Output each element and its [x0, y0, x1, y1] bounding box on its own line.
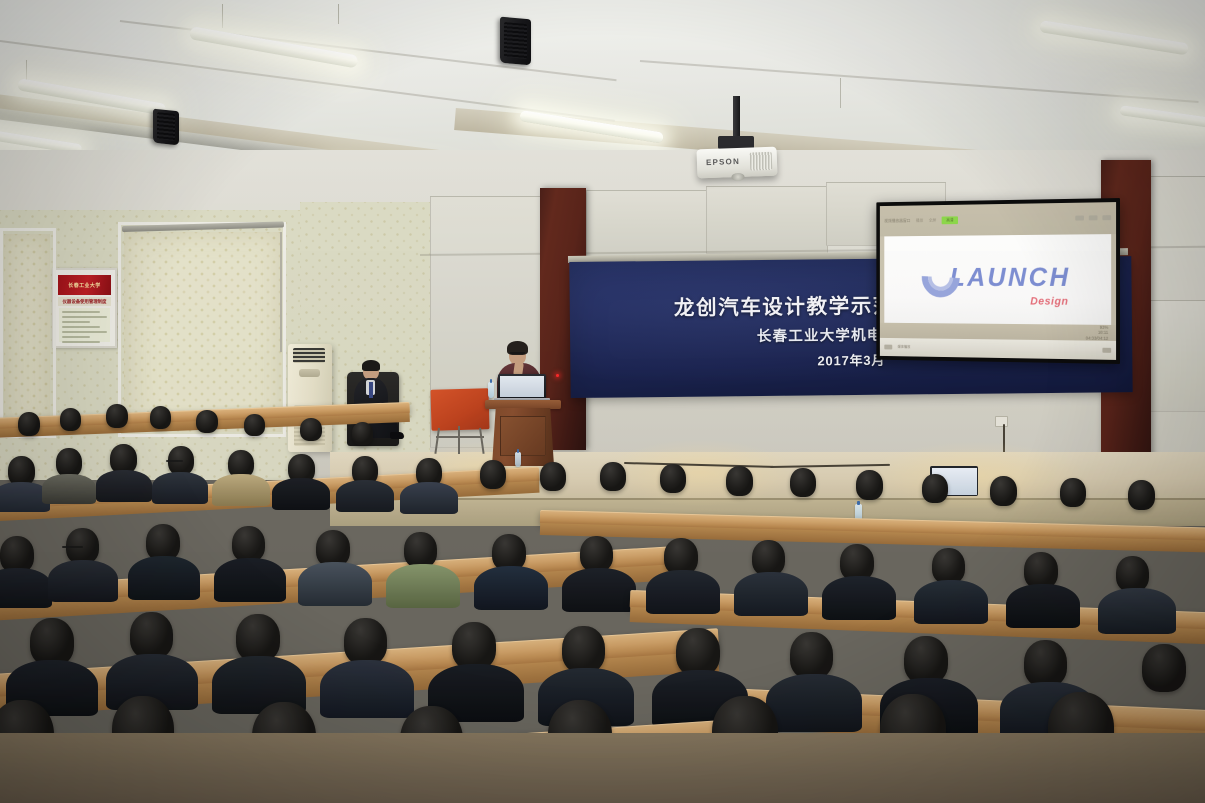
guest-tie	[369, 382, 373, 398]
aud-head-cr4	[932, 548, 965, 584]
podium-laptop-screen[interactable]	[500, 376, 544, 397]
aud-head-a6	[244, 414, 265, 436]
aud-head-br8	[1060, 478, 1086, 507]
aud-shoulder-c2	[48, 560, 118, 602]
aud-head-dr1	[676, 628, 720, 676]
aud-shoulder-d4	[320, 660, 414, 718]
aud-head-dr3	[904, 636, 948, 684]
aud-head-cr2	[752, 540, 785, 576]
ac-grille-icon	[293, 348, 325, 363]
aud-shoulder-cr4	[914, 580, 988, 624]
ceiling-projector: EPSON	[697, 147, 778, 179]
launch-swoosh-icon	[922, 257, 960, 298]
launch-logo-subtext: Design	[1030, 296, 1068, 308]
aud-head-a5	[196, 410, 218, 433]
projector-brand-label: EPSON	[706, 157, 740, 167]
wall-panel-3	[706, 186, 828, 254]
lecture-hall-photo: 长春工业大学 仪器设备使用管理制度	[0, 0, 1205, 803]
light-wire-4	[840, 78, 841, 108]
aud-shoulder-c7	[474, 566, 548, 610]
aud-head-br6	[922, 474, 948, 503]
wall-notice-frame: 长春工业大学 仪器设备使用管理制度	[52, 268, 117, 348]
player-taskbar[interactable]: 媒体播放	[880, 338, 1116, 360]
aud-head-d5	[452, 622, 496, 670]
aud-shoulder-b2	[42, 474, 96, 504]
taskbar-start-icon[interactable]	[884, 345, 892, 350]
aud-head-c6	[404, 532, 437, 568]
aud-shoulder-c3	[128, 556, 200, 600]
aud-shoulder-dr2	[766, 674, 862, 732]
notice-subtitle-text: 仪器设备使用管理制度	[63, 299, 107, 305]
aud-head-d4	[344, 618, 387, 665]
aud-shoulder-b3	[96, 470, 152, 502]
maximize-icon[interactable]	[1089, 216, 1098, 221]
aud-shoulder-b5	[212, 474, 270, 506]
aud-head-d6	[562, 626, 605, 673]
aud-head-a7	[300, 418, 322, 441]
aud-shoulder-b4	[152, 472, 208, 504]
aud-shoulder-b7	[336, 480, 394, 512]
aud-head-c4	[232, 526, 265, 562]
notice-text-line	[62, 321, 90, 323]
aud-shoulder-cr3	[822, 576, 896, 620]
player-toolbar[interactable]: 视频播放器窗口 播放 全屏 高清	[880, 202, 1116, 236]
aud-head-dr4	[1024, 640, 1067, 687]
notice-text-line	[62, 316, 107, 318]
aud-head-a4	[150, 406, 171, 429]
player-window-controls[interactable]	[1075, 215, 1111, 220]
aud-head-a3	[106, 404, 128, 428]
projection-screen-surface: 视频播放器窗口 播放 全屏 高清 LAUNCH Design	[880, 202, 1116, 360]
notice-body	[59, 308, 110, 342]
close-icon[interactable]	[1102, 215, 1111, 220]
aud-head-dr2	[790, 632, 833, 679]
ceiling-light-1	[189, 26, 359, 68]
player-toolbar-item-fullscreen[interactable]: 全屏	[929, 217, 937, 223]
ceiling-speaker-right	[500, 17, 531, 66]
aud-head-br3	[726, 466, 753, 496]
projector-pole	[733, 96, 740, 140]
projector-vent	[750, 152, 773, 171]
blind-cord-1[interactable]	[280, 232, 282, 352]
aud-head-br7	[990, 476, 1017, 506]
notice-text-line	[62, 331, 107, 333]
aud-head-b9	[480, 460, 506, 489]
aud-head-cr6	[1116, 556, 1149, 592]
launch-logo-text: LAUNCH	[950, 262, 1071, 293]
aud-shoulder-c1	[0, 568, 52, 608]
minimize-icon[interactable]	[1075, 216, 1084, 221]
podium-laptop-lid[interactable]	[498, 374, 546, 399]
notice-text-line	[62, 346, 107, 348]
aud-head-a8	[352, 422, 373, 445]
aisle-floor	[0, 733, 1205, 803]
aud-head-d1	[30, 618, 74, 666]
notice-text-line	[62, 341, 100, 343]
aud-shoulder-cr6	[1098, 588, 1176, 634]
notice-header-band: 长春工业大学	[58, 275, 111, 295]
aud-head-br5	[856, 470, 883, 500]
ceiling-speaker-left	[153, 109, 179, 146]
player-toolbar-item-play[interactable]: 播放	[916, 218, 924, 224]
aud-shoulder-cr1	[646, 570, 720, 614]
podium-water-bottle[interactable]	[488, 382, 494, 398]
ceiling-light-7	[1119, 105, 1205, 128]
player-quality-badge[interactable]: 高清	[942, 216, 958, 224]
ac-display-panel[interactable]	[299, 369, 319, 378]
aud-shoulder-b8	[400, 482, 458, 514]
laser-pointer-dot	[556, 374, 559, 377]
aud-head-br1	[600, 462, 626, 491]
aud-glasses-c2	[62, 546, 83, 548]
aud-head-b2	[56, 448, 82, 477]
light-wire-1	[222, 4, 223, 28]
aud-shoulder-c6	[386, 564, 460, 608]
aud-shoulder-cr2	[734, 572, 808, 616]
aud-shoulder-b6	[272, 478, 330, 510]
aud-head-d2	[130, 612, 173, 659]
taskbar-item-icon[interactable]	[1102, 348, 1111, 353]
aud-head-a1	[18, 412, 40, 436]
aud-shoulder-c5	[298, 562, 372, 606]
projection-screen: 视频播放器窗口 播放 全屏 高清 LAUNCH Design	[876, 198, 1120, 364]
launch-design-logo: LAUNCH Design	[922, 257, 1071, 299]
player-video-area[interactable]: LAUNCH Design	[884, 234, 1111, 325]
light-wire-2	[338, 4, 339, 24]
aud-head-c8	[580, 536, 613, 572]
aud-head-d3	[236, 614, 280, 662]
wall-panel-6	[1150, 300, 1205, 412]
aud-shoulder-c8	[562, 568, 636, 612]
aud-head-dr5	[1142, 644, 1186, 692]
notice-text-line	[62, 336, 90, 338]
player-title: 视频播放器窗口	[884, 218, 910, 224]
audience-area: CHICAGO	[0, 400, 1205, 803]
notice-subtitle-band: 仪器设备使用管理制度	[58, 297, 111, 306]
aud-head-br9	[1128, 480, 1155, 510]
notice-text-line	[62, 326, 100, 328]
ceiling-light-6	[1039, 20, 1189, 55]
notice-header-text: 长春工业大学	[68, 282, 100, 289]
banner-date-line: 2017年3月	[817, 350, 885, 370]
ceiling-seam-c	[640, 60, 1199, 103]
taskbar-label: 媒体播放	[898, 345, 911, 350]
aud-glasses-b4	[166, 460, 183, 462]
notice-text-line	[62, 311, 100, 313]
aud-shoulder-cr5	[1006, 584, 1080, 628]
aud-shoulder-c4	[214, 558, 286, 602]
guest-hair	[362, 360, 380, 371]
aud-head-br4	[790, 468, 816, 497]
aud-head-b10	[540, 462, 566, 491]
aud-head-br2	[660, 464, 686, 493]
aud-head-a2	[60, 408, 81, 431]
